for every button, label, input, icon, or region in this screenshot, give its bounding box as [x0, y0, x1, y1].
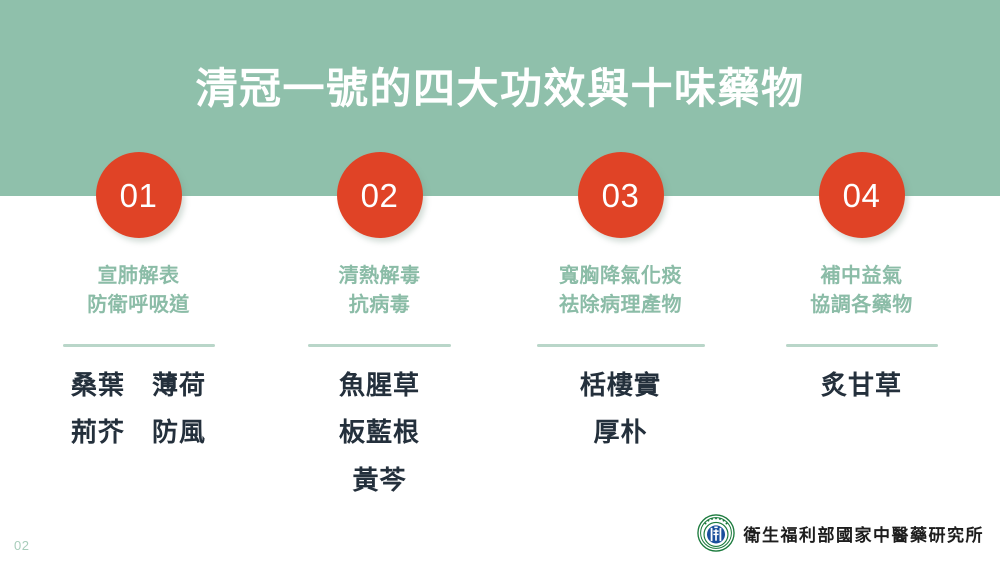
column-divider	[786, 344, 938, 347]
herb-line: 炙甘草	[741, 362, 982, 409]
badge-02: 02	[337, 152, 423, 238]
effect-column-4: 04 補中益氣 協調各藥物 炙甘草	[741, 0, 982, 564]
footer-logo-text: 衛生福利部國家中醫藥研究所	[744, 521, 985, 546]
page-number: 02	[14, 538, 29, 553]
effect-line: 抗病毒	[259, 291, 500, 320]
effect-column-2: 02 清熱解毒 抗病毒 魚腥草 板藍根 黃芩	[259, 0, 500, 564]
badge-number: 02	[361, 179, 399, 212]
effect-line: 寬胸降氣化痰	[500, 262, 741, 291]
herb-line: 荊芥 防風	[18, 409, 259, 456]
herb-line: 板藍根	[259, 409, 500, 456]
effect-line: 防衛呼吸道	[18, 291, 259, 320]
effect-line: 協調各藥物	[741, 291, 982, 320]
effect-text-1: 宣肺解表 防衛呼吸道	[18, 262, 259, 320]
badge-number: 03	[602, 179, 640, 212]
herb-list-3: 栝樓實 厚朴	[500, 362, 741, 457]
badge-number: 04	[843, 179, 881, 212]
herb-list-1: 桑葉 薄荷 荊芥 防風	[18, 362, 259, 457]
effect-line: 祛除病理產物	[500, 291, 741, 320]
herb-line: 桑葉 薄荷	[18, 362, 259, 409]
effect-column-3: 03 寬胸降氣化痰 祛除病理產物 栝樓實 厚朴	[500, 0, 741, 564]
herb-line: 魚腥草	[259, 362, 500, 409]
effect-text-2: 清熱解毒 抗病毒	[259, 262, 500, 320]
herb-line: 栝樓實	[500, 362, 741, 409]
effect-text-3: 寬胸降氣化痰 祛除病理產物	[500, 262, 741, 320]
institute-seal-icon	[697, 514, 735, 552]
badge-03: 03	[578, 152, 664, 238]
column-divider	[537, 344, 705, 347]
effect-line: 宣肺解表	[18, 262, 259, 291]
herb-line: 厚朴	[500, 409, 741, 456]
effect-line: 清熱解毒	[259, 262, 500, 291]
column-divider	[308, 344, 451, 347]
slide-canvas: 清冠一號的四大功效與十味藥物 01 宣肺解表 防衛呼吸道 桑葉 薄荷 荊芥 防風…	[0, 0, 1000, 564]
herb-line: 黃芩	[259, 457, 500, 504]
footer-logo: 衛生福利部國家中醫藥研究所	[697, 512, 985, 554]
effect-line: 補中益氣	[741, 262, 982, 291]
badge-01: 01	[96, 152, 182, 238]
effect-text-4: 補中益氣 協調各藥物	[741, 262, 982, 320]
effect-columns: 01 宣肺解表 防衛呼吸道 桑葉 薄荷 荊芥 防風 02 清熱解毒 抗病毒	[0, 0, 1000, 564]
badge-number: 01	[120, 179, 158, 212]
column-divider	[63, 344, 215, 347]
herb-list-4: 炙甘草	[741, 362, 982, 409]
effect-column-1: 01 宣肺解表 防衛呼吸道 桑葉 薄荷 荊芥 防風	[18, 0, 259, 564]
herb-list-2: 魚腥草 板藍根 黃芩	[259, 362, 500, 504]
badge-04: 04	[819, 152, 905, 238]
